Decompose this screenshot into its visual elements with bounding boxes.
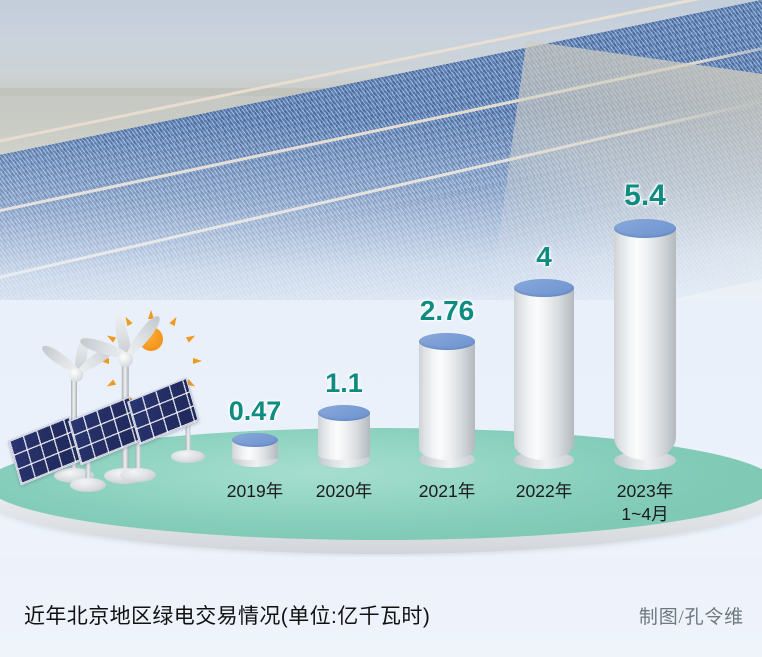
chart-title: 近年北京地区绿电交易情况(单位:亿千瓦时) — [24, 600, 430, 630]
panel-foot — [70, 478, 106, 492]
bar-2020: 1.12020年 — [318, 373, 370, 530]
bar-value-label: 0.47 — [229, 396, 282, 427]
panel-foot — [120, 468, 156, 482]
credit-text: 制图/孔令维 — [639, 602, 744, 629]
bar-top-ellipse — [614, 219, 676, 238]
bar-category-label: 2021年 — [419, 480, 475, 503]
panel-foot — [171, 450, 205, 463]
bar-category-label: 2019年 — [227, 480, 283, 503]
bar-2019: 0.472019年 — [232, 400, 278, 530]
bar-top-ellipse — [318, 405, 370, 421]
bar-body — [614, 228, 676, 460]
bar-body — [514, 288, 574, 460]
bar-value-label: 4 — [536, 241, 552, 273]
bar-body — [419, 341, 475, 460]
bar-value-label: 2.76 — [420, 295, 475, 327]
infographic-root: 0.472019年1.12020年2.762021年42022年5.42023年… — [0, 0, 762, 657]
bar-top-ellipse — [232, 433, 278, 447]
bar-value-label: 5.4 — [624, 179, 666, 213]
bar-2023: 5.42023年1~4月 — [614, 188, 676, 530]
bar-category-label: 2022年 — [516, 480, 572, 503]
bar-category-label: 2020年 — [316, 480, 372, 503]
bar-category-label-line2: 1~4月 — [621, 504, 668, 524]
bar-top-ellipse — [419, 333, 475, 350]
bar-2022: 42022年 — [514, 248, 574, 530]
bar-value-label: 1.1 — [325, 368, 363, 399]
sun-ray — [193, 358, 202, 364]
turbine-hub — [118, 352, 133, 367]
bar-category-label: 2023年1~4月 — [617, 480, 673, 526]
bar-2021: 2.762021年 — [419, 301, 475, 530]
